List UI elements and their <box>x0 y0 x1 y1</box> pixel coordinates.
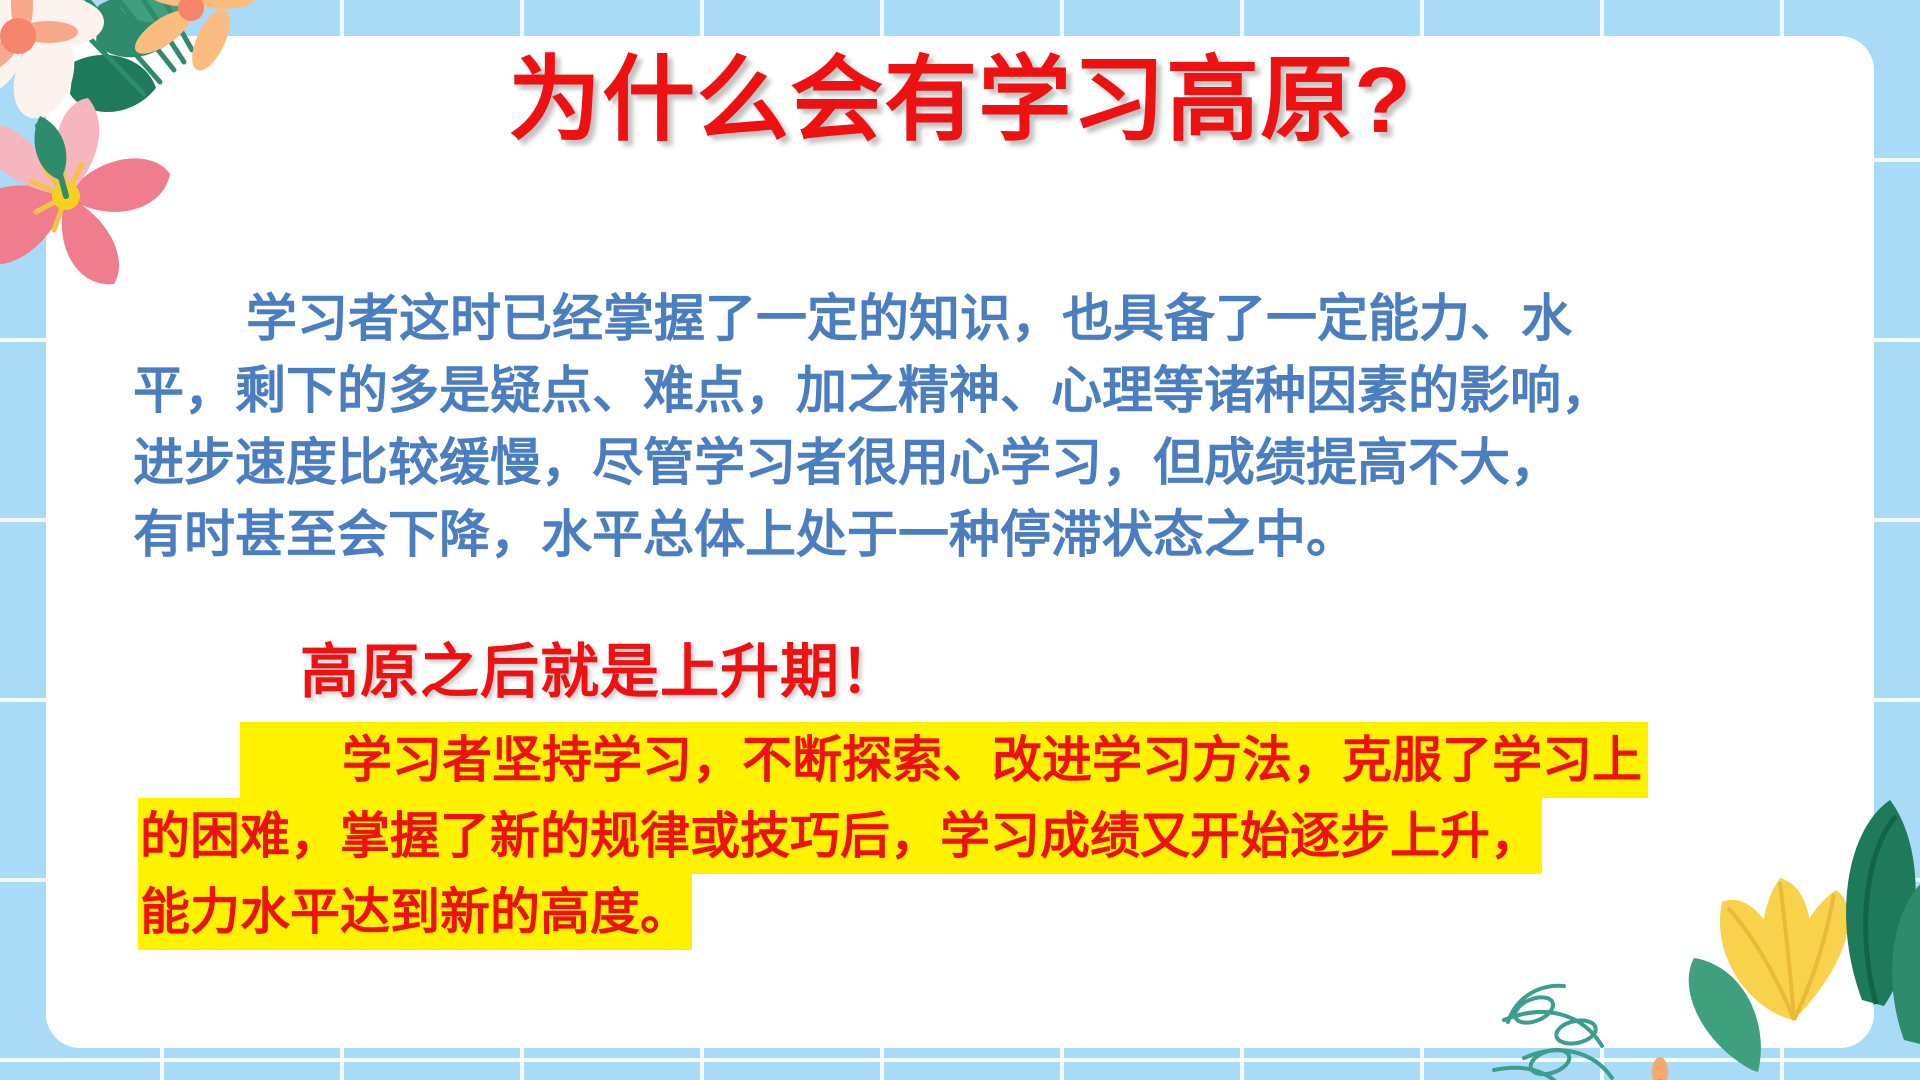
body-line-4: 有时甚至会下降，水平总体上处于一种停滞状态之中。 <box>133 499 1773 571</box>
slide-root: 为什么会有学习高原? 学习者这时已经掌握了一定的知识，也具备了一定能力、水 平，… <box>0 0 1920 1080</box>
highlight-line-2: 的困难，掌握了新的规律或技巧后，学习成绩又开始逐步上升， <box>138 798 1542 874</box>
highlighted-paragraph: 学习者坚持学习，不断探索、改进学习方法，克服了学习上 的困难，掌握了新的规律或技… <box>138 722 1773 950</box>
body-line-1: 学习者这时已经掌握了一定的知识，也具备了一定能力、水 <box>133 283 1773 355</box>
highlight-line-1: 学习者坚持学习，不断探索、改进学习方法，克服了学习上 <box>240 722 1648 798</box>
body-line-2: 平，剩下的多是疑点、难点，加之精神、心理等诸种因素的影响， <box>133 355 1773 427</box>
subheading: 高原之后就是上升期！ <box>300 624 900 709</box>
body-line-3: 进步速度比较缓慢，尽管学习者很用心学习，但成绩提高不大， <box>133 427 1773 499</box>
slide-content: 为什么会有学习高原? 学习者这时已经掌握了一定的知识，也具备了一定能力、水 平，… <box>0 0 1920 1080</box>
body-paragraph: 学习者这时已经掌握了一定的知识，也具备了一定能力、水 平，剩下的多是疑点、难点，… <box>133 283 1773 571</box>
highlight-line-3: 能力水平达到新的高度。 <box>138 874 692 950</box>
page-title: 为什么会有学习高原? <box>0 52 1920 150</box>
